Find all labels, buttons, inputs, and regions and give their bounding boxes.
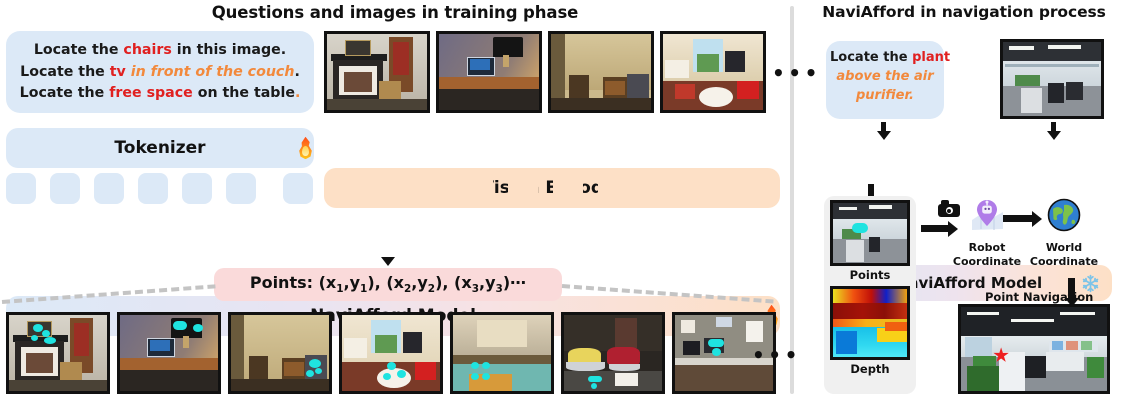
training-thumbnails-ellipsis: •••: [772, 63, 821, 83]
training-thumbnail-3: [548, 31, 654, 113]
nav-question-line-2: above the air purifier.: [830, 67, 940, 105]
vision-token: [740, 173, 770, 204]
tokenizer-module: Tokenizer: [6, 128, 314, 168]
text-token: [6, 173, 36, 204]
text-token: [94, 173, 124, 204]
page-title-navigation: NaviAfford in navigation process: [800, 3, 1128, 21]
navigation-question-box: Locate the plant above the air purifier.: [826, 41, 944, 119]
depth-output-image: [830, 286, 910, 360]
tokenizer-label: Tokenizer: [114, 138, 205, 158]
vision-token: [598, 173, 628, 204]
result-thumbnail-1: [6, 312, 110, 394]
training-thumbnail-2: [436, 31, 542, 113]
point-marker: [31, 335, 38, 341]
result-thumbnail-5: [450, 312, 554, 394]
training-thumbnail-4: [660, 31, 766, 113]
navigation-result-image: [958, 304, 1110, 394]
point-navigation-label: Point Navigation: [985, 290, 1095, 304]
navigation-input-image: [1000, 39, 1104, 119]
world-coordinate-caption: World Coordinate: [1021, 241, 1107, 268]
point-marker: [708, 339, 724, 347]
robot-coordinate-caption: Robot Coordinate: [944, 241, 1030, 268]
result-thumbnail-4: [339, 312, 443, 394]
vision-token: [463, 173, 493, 204]
robot-pin-icon: [967, 196, 1007, 236]
point-marker: [471, 362, 479, 369]
point-marker: [397, 370, 406, 378]
question-line-3: Locate the free space on the table.: [16, 83, 304, 105]
vision-token: [553, 173, 583, 204]
point-marker: [173, 321, 187, 330]
globe-icon: [1047, 198, 1081, 232]
vision-token: [508, 173, 538, 204]
nav-question-line-1: Locate the plant: [830, 48, 940, 67]
page-title-training: Questions and images in training phase: [0, 3, 790, 22]
points-caption: Points: [824, 268, 916, 282]
vision-token: [328, 173, 358, 204]
arrow-model-to-points: [381, 257, 395, 266]
training-question-box: Locate the chairs in this image. Locate …: [6, 31, 314, 113]
result-thumbnail-6: [561, 312, 665, 394]
points-output-box: Points: (x1,y1), (x2,y2), (x3,y3)⋯: [214, 268, 562, 301]
point-marker: [193, 324, 203, 332]
point-marker: [383, 373, 391, 380]
vision-token: [643, 173, 673, 204]
point-marker: [852, 223, 868, 233]
training-thumbnail-1: [324, 31, 430, 113]
text-token: [50, 173, 80, 204]
point-marker: [471, 373, 479, 380]
result-thumbnails-ellipsis: •••: [752, 345, 801, 365]
question-line-1: Locate the chairs in this image.: [16, 40, 304, 62]
depth-caption: Depth: [824, 362, 916, 376]
text-token: [182, 173, 212, 204]
point-marker: [33, 324, 43, 332]
result-thumbnail-3: [228, 312, 332, 394]
result-thumbnail-2: [117, 312, 221, 394]
vision-token: [373, 173, 403, 204]
vision-token: [688, 173, 718, 204]
camera-icon: [938, 200, 960, 217]
points-output-image: [830, 200, 910, 266]
vision-token: [418, 173, 448, 204]
point-marker: [588, 376, 602, 382]
text-token: [283, 173, 313, 204]
question-line-2: Locate the tv in front of the couch.: [16, 62, 304, 84]
text-token: [226, 173, 256, 204]
points-output-text: Points: (x1,y1), (x2,y2), (x3,y3)⋯: [250, 273, 526, 295]
text-token: [138, 173, 168, 204]
